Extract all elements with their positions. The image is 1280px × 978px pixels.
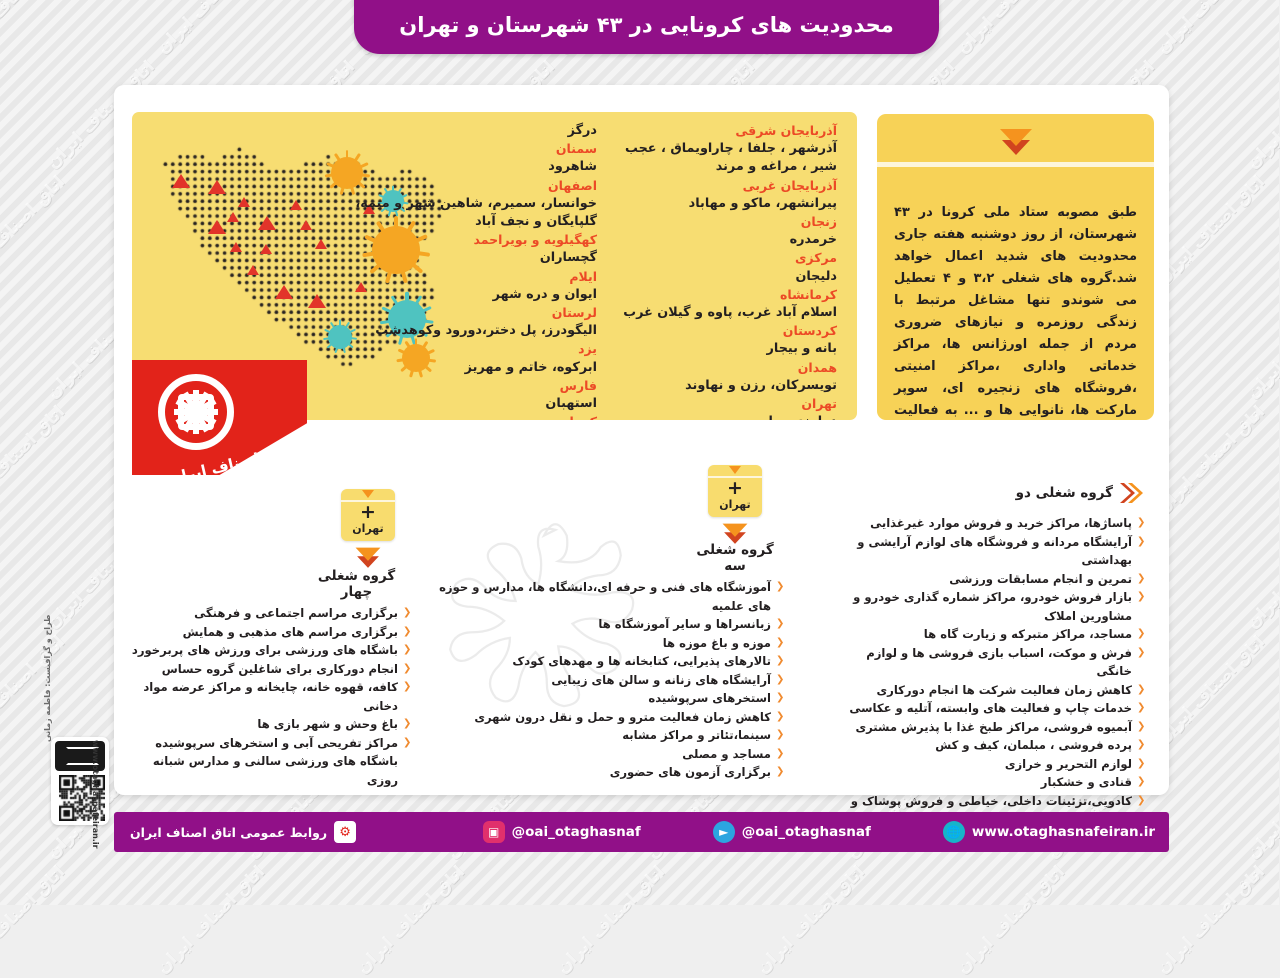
list-item: تمرین و انجام مسابقات ورزشی: [838, 570, 1146, 589]
instagram-icon: ▣: [484, 821, 506, 843]
city-list: استهبان: [348, 395, 598, 413]
map-marker: [228, 212, 240, 222]
list-item: قنادی و خشکبار: [838, 773, 1146, 792]
province-list-left: درگزسمنانشاهروداصفهانخوانسار، سمیرم، شاه…: [348, 122, 598, 420]
page-title-bar: محدودیت های کرونایی در ۴۳ شهرستان و تهرا…: [355, 0, 940, 54]
city-list: گچساران: [348, 249, 598, 267]
map-marker: [259, 216, 277, 230]
list-item: خدمات چاپ و فعالیت های وابسته، آتلیه و ع…: [838, 699, 1146, 718]
watermark-text: اتاق اصناف ایران: [1244, 517, 1280, 633]
city-list: اسلام آباد غرب، پاوه و گیلان غرب: [608, 304, 838, 322]
map-marker: [239, 197, 251, 207]
list-item: مراکز تفریحی آبی و استخرهای سرپوشیده باش…: [132, 734, 412, 790]
badge-cap: [709, 465, 763, 478]
group-two-title: گروه شغلی دو: [1017, 485, 1114, 501]
watermark-text: اتاق اصناف ایران: [1244, 57, 1280, 173]
footer-item-org: ⚙ روابط عمومی اتاق اصناف ایران: [131, 821, 357, 843]
watermark-text: اتاق اصناف ایران: [0, 402, 70, 518]
watermark-text: اتاق اصناف ایران: [1154, 862, 1270, 978]
badge-cap: [342, 489, 396, 502]
watermark-text: اتاق اصناف ایران: [154, 0, 270, 58]
org-logo-icon: ⚙: [335, 821, 357, 843]
watermark-text: اتاق اصناف ایران: [354, 862, 470, 978]
virus-spike: [340, 320, 342, 327]
province-name: سمنان: [348, 140, 598, 158]
tehran-label: تهران: [709, 498, 763, 511]
map-marker: [261, 244, 273, 254]
list-item: برگزاری مراسم اجتماعی و فرهنگی: [132, 604, 412, 623]
list-item: استخرهای سرپوشیده: [425, 689, 785, 708]
list-item: کاهش زمان فعالیت شرکت ها انجام دورکاری: [838, 681, 1146, 700]
list-item: مساجد و مصلی: [425, 745, 785, 764]
gear-teeth-icon: [159, 374, 235, 450]
watermark-text: اتاق اصناف ایران: [1154, 632, 1270, 748]
list-item: بازار فروش خودرو، مراکز شماره گذاری خودر…: [838, 588, 1146, 625]
watermark-text: اتاق اصناف ایران: [954, 0, 1070, 58]
telegram-icon: ►: [714, 821, 736, 843]
list-item: کافه، قهوه خانه، چایخانه و مراکز عرضه مو…: [132, 678, 412, 715]
city-list: پیرانشهر، ماکو و مهاباد: [608, 195, 838, 213]
plus-sign: +: [709, 478, 763, 498]
footer-item-website[interactable]: 🌐 www.otaghasnafeiran.ir: [944, 821, 1156, 843]
province-name: یزد: [348, 340, 598, 358]
list-item: آرایشگاه های زنانه و سالن های زیبایی: [425, 671, 785, 690]
city-list: بانه و بیجار: [608, 340, 838, 358]
map-marker: [209, 220, 227, 234]
tehran-badge-group-four: + تهران: [342, 489, 396, 541]
watermark-text: اتاق اصناف ایران: [1154, 0, 1270, 58]
group-four-title: گروه شغلی چهار: [305, 568, 410, 600]
list-item: پرده فروشی ، مبلمان، کیف و کش: [838, 736, 1146, 755]
watermark-text: اتاق اصناف ایران: [1154, 402, 1270, 518]
province-name: آذربایجان غربی: [608, 177, 838, 195]
footer-item-telegram[interactable]: ► @oai_otaghasnaf: [714, 821, 872, 843]
group-two-list: پاساژها، مراکز خرید و فروش موارد غیرغذای…: [838, 514, 1146, 829]
notice-text: طبق مصوبه ستاد ملی کرونا در ۴۳ شهرستان، …: [878, 170, 1155, 420]
list-item: سینما،تئاتر و مراکز مشابه: [425, 726, 785, 745]
list-item: کاهش زمان فعالیت مترو و حمل و نقل درون ش…: [425, 708, 785, 727]
city-list: دماوند، ورامین: [608, 413, 838, 420]
map-marker: [248, 265, 260, 275]
map-marker: [309, 294, 327, 308]
list-item: باغ وحش و شهر بازی ها: [132, 715, 412, 734]
list-item: برگزاری مراسم های مذهبی و همایش: [132, 623, 412, 642]
map-marker: [301, 220, 313, 230]
double-chevron-icon: [1120, 482, 1146, 504]
footer-instagram-label: @oai_otaghasnaf: [513, 824, 642, 840]
province-name: آذربایجان شرقی: [608, 122, 838, 140]
city-list: آذرشهر ، جلفا ، چاراویماق ، عجب شیر ، مر…: [608, 140, 838, 176]
list-item: لوازم التحریر و خرازی: [838, 755, 1146, 774]
province-name: مرکزی: [608, 249, 838, 267]
globe-icon: 🌐: [944, 821, 966, 843]
city-list: شاهرود: [348, 158, 598, 176]
list-item: مساجد، مراکز متبرکه و زیارت گاه ها: [838, 625, 1146, 644]
notice-panel-header: [878, 114, 1155, 162]
footer-bar: 🌐 www.otaghasnafeiran.ir ► @oai_otaghasn…: [115, 812, 1170, 852]
watermark-text: اتاق اصناف ایران: [954, 862, 1070, 978]
map-marker: [173, 174, 191, 188]
city-list: ابرکوه، خاتم و مهریز: [348, 359, 598, 377]
list-item: پاساژها، مراکز خرید و فروش موارد غیرغذای…: [838, 514, 1146, 533]
watermark-text: اتاق اصناف ایران: [1244, 287, 1280, 403]
list-item: آرایشگاه مردانه و فروشگاه های لوازم آرای…: [838, 533, 1146, 570]
footer-telegram-label: @oai_otaghasnaf: [743, 824, 872, 840]
map-marker: [231, 242, 243, 252]
small-down-arrow-icon: [730, 466, 742, 475]
province-name: کردستان: [608, 322, 838, 340]
list-item: فرش و موکت، اسباب بازی فروشی ها و لوازم …: [838, 644, 1146, 681]
province-name: همدان: [608, 359, 838, 377]
watermark-text: اتاق اصناف ایران: [554, 862, 670, 978]
list-item: انجام دورکاری برای شاغلین گروه حساس: [132, 660, 412, 679]
list-item: آبمیوه فروشی، مراکز طبخ غذا با پذیرش مشت…: [838, 718, 1146, 737]
province-name: کهگیلویه و بویراحمد: [348, 231, 598, 249]
plus-sign: +: [342, 502, 396, 522]
watermark-text: اتاق اصناف ایران: [154, 862, 270, 978]
footer-item-instagram[interactable]: ▣ @oai_otaghasnaf: [484, 821, 642, 843]
footer-org-label: روابط عمومی اتاق اصناف ایران: [131, 825, 328, 840]
list-item: باشگاه های ورزشی برای ورزش های پربرخورد: [132, 641, 412, 660]
small-down-arrow-icon: [363, 490, 375, 499]
footer-website-label: www.otaghasnafeiran.ir: [973, 824, 1156, 840]
watermark-text: اتاق اصناف ایران: [0, 172, 70, 288]
province-name: زنجان: [608, 213, 838, 231]
tehran-badge-group-three: + تهران: [709, 465, 763, 517]
watermark-text: اتاق اصناف ایران: [0, 862, 70, 978]
down-arrow-icon-group-four: [355, 545, 383, 569]
list-item: موزه و باغ موزه ها: [425, 634, 785, 653]
province-name: کرمانشاه: [608, 286, 838, 304]
list-item: زبانسراها و سایر آموزشگاه ها: [425, 615, 785, 634]
notice-panel: طبق مصوبه ستاد ملی کرونا در ۴۳ شهرستان، …: [878, 114, 1155, 420]
group-two-panel: گروه شغلی دو پاساژها، مراکز خرید و فروش …: [836, 470, 1146, 770]
watermark-text: اتاق اصناف ایران: [754, 862, 870, 978]
province-name: لرستان: [348, 304, 598, 322]
watermark-text: اتاق اصناف ایران: [1154, 172, 1270, 288]
city-list: دلیجان: [608, 268, 838, 286]
list-item: برگزاری آزمون های حضوری: [425, 763, 785, 782]
group-three-list: آموزشگاه های فنی و حرفه ای،دانشگاه ها، م…: [425, 578, 785, 782]
notice-divider: [878, 162, 1155, 167]
city-list: درگز: [348, 122, 598, 140]
tehran-label: تهران: [342, 522, 396, 535]
down-arrow-icon: [999, 126, 1035, 156]
map-marker: [316, 239, 328, 249]
qr-url-label: www.otaghasnafeiran.ir: [92, 740, 101, 849]
group-four-list: برگزاری مراسم اجتماعی و فرهنگیبرگزاری مر…: [132, 604, 412, 789]
city-list: خرمدره: [608, 231, 838, 249]
province-name: ایلام: [348, 268, 598, 286]
province-name: اصفهان: [348, 177, 598, 195]
province-name: فارس: [348, 377, 598, 395]
map-marker: [291, 200, 303, 210]
province-name: تهران: [608, 395, 838, 413]
page-title: محدودیت های کرونایی در ۴۳ شهرستان و تهرا…: [400, 13, 894, 37]
designer-credit: طراح و گرافیست: فاطمه زمانی: [44, 615, 64, 735]
group-three-title: گروه شغلی سه: [686, 542, 786, 574]
city-list: خوانسار، سمیرم، شاهین شهر و میمه، گلپایگ…: [348, 195, 598, 231]
watermark-text: اتاق اصناف ایران: [1244, 747, 1280, 863]
map-marker: [276, 285, 294, 299]
province-name: کرمان: [348, 413, 598, 420]
city-list: تویسرکان، رزن و نهاوند: [608, 377, 838, 395]
watermark-text: اتاق اصناف ایران: [0, 0, 70, 58]
city-list: ایوان و دره شهر: [348, 286, 598, 304]
map-marker: [209, 180, 227, 194]
province-list-right: آذربایجان شرقیآذرشهر ، جلفا ، چاراویماق …: [608, 122, 838, 420]
city-list: الیگودرز، پل دختر،دورود وکوهدشت: [348, 322, 598, 340]
qr-code-block[interactable]: [52, 737, 110, 825]
list-item: تالارهای پذیرایی، کتابخانه ها و مهدهای ک…: [425, 652, 785, 671]
list-item: آموزشگاه های فنی و حرفه ای،دانشگاه ها، م…: [425, 578, 785, 615]
